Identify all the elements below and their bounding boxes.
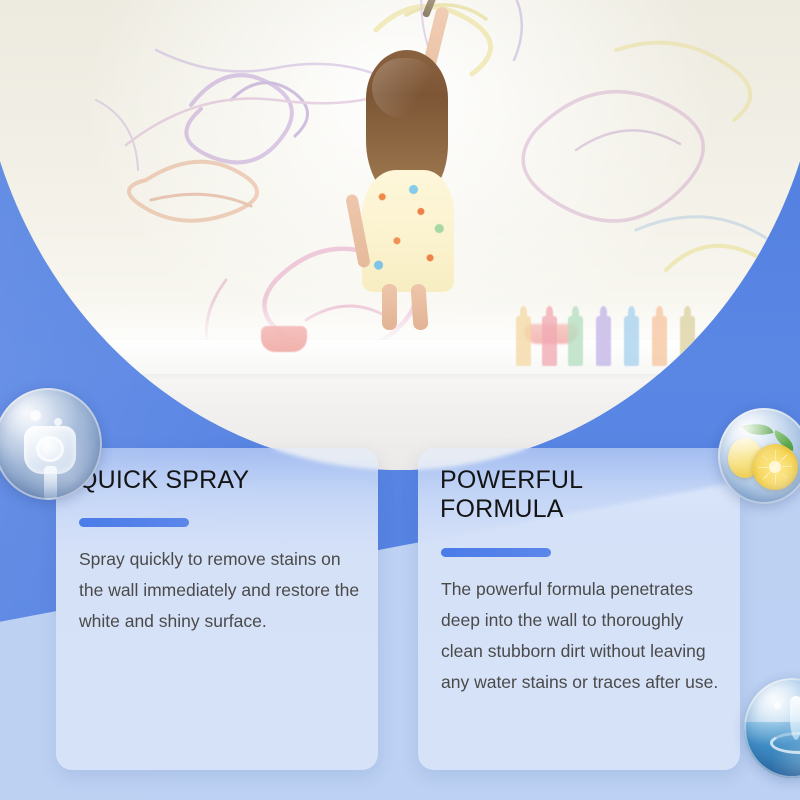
lemon-icon: [718, 408, 800, 504]
feature-card-powerful-formula[interactable]: POWERFUL FORMULA The powerful formula pe…: [418, 448, 740, 770]
accent-bar: [79, 518, 189, 527]
droplet: [774, 702, 781, 709]
lemon-slice: [752, 444, 798, 490]
card-title: POWERFUL FORMULA: [440, 466, 726, 524]
card-title: QUICK SPRAY: [78, 466, 364, 495]
feature-cards: QUICK SPRAY Spray quickly to remove stai…: [0, 0, 800, 800]
nozzle-shape: [24, 426, 76, 474]
feature-card-quick-spray[interactable]: QUICK SPRAY Spray quickly to remove stai…: [56, 448, 378, 770]
droplet: [54, 418, 62, 426]
accent-bar: [441, 548, 551, 557]
card-body: Spray quickly to remove stains on the wa…: [79, 544, 360, 637]
banner-root: QUICK SPRAY Spray quickly to remove stai…: [0, 0, 800, 800]
droplet: [30, 410, 41, 421]
card-body: The powerful formula penetrates deep int…: [441, 574, 722, 698]
